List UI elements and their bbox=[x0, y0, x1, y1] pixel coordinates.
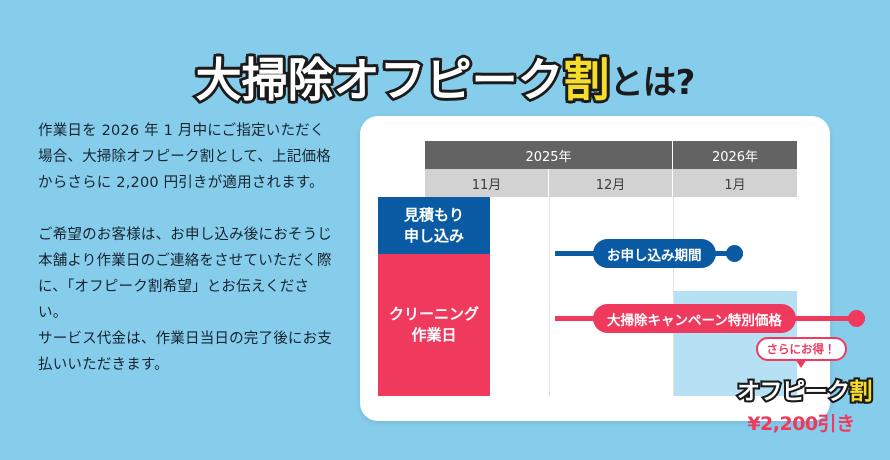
page-title: 大掃除オフピーク割とは? bbox=[0, 44, 890, 110]
month-header-row: 11月 12月 1月 bbox=[425, 169, 797, 197]
year-header-row: 2025年 2026年 bbox=[425, 141, 797, 169]
bar-enddot-campaign bbox=[848, 310, 865, 327]
column-divider-2 bbox=[673, 197, 674, 396]
offpeak-callout: さらにお得！ オフピーク割 ¥2,200引き bbox=[737, 337, 865, 436]
page-title-main: 大掃除オフピーク bbox=[196, 53, 564, 107]
row-label-cleaning-line2: 作業日 bbox=[411, 325, 456, 346]
row-label-quote-line2: 申し込み bbox=[404, 226, 464, 247]
offpeak-discount-amount: ¥2,200引き bbox=[737, 409, 865, 436]
bar-label-application: お申し込み期間 bbox=[593, 239, 716, 268]
page-title-accent: 割 bbox=[564, 53, 610, 107]
offpeak-title: オフピーク割 bbox=[737, 372, 865, 406]
month-header-november: 11月 bbox=[425, 169, 549, 197]
row-label-cleaning-line1: クリーニング bbox=[389, 304, 479, 325]
description-paragraph-1: 作業日を 2026 年 1 月中にご指定いただく場合、大掃除オフピーク割として、… bbox=[38, 118, 338, 196]
bar-enddot-application bbox=[726, 245, 743, 262]
offpeak-title-accent: 割 bbox=[850, 379, 873, 405]
description-paragraph-2: ご希望のお客様は、お申し込み後におそうじ本舗より作業日のご連絡をさせていただく際… bbox=[38, 222, 338, 326]
offpeak-bubble-label: さらにお得！ bbox=[756, 337, 847, 361]
description-paragraph-3: サービス代金は、作業日当日の完了後にお支払いいただきます。 bbox=[38, 326, 338, 378]
column-divider-1 bbox=[549, 197, 550, 396]
month-header-december: 12月 bbox=[549, 169, 673, 197]
bar-label-campaign: 大掃除キャンペーン特別価格 bbox=[593, 304, 796, 333]
row-label-cleaning-day: クリーニング 作業日 bbox=[378, 254, 490, 396]
row-label-quote-application: 見積もり 申し込み bbox=[378, 197, 490, 254]
year-header-2026: 2026年 bbox=[673, 141, 797, 169]
offpeak-title-main: オフピーク bbox=[737, 379, 850, 405]
month-header-january: 1月 bbox=[673, 169, 797, 197]
description-text: 作業日を 2026 年 1 月中にご指定いただく場合、大掃除オフピーク割として、… bbox=[38, 118, 338, 378]
year-header-2025: 2025年 bbox=[425, 141, 673, 169]
schedule-card: 2025年 2026年 11月 12月 1月 お申し込み期間 大掃除キャンペーン… bbox=[360, 116, 830, 421]
page-title-tail: とは? bbox=[610, 63, 695, 103]
row-label-quote-line1: 見積もり bbox=[404, 205, 464, 226]
